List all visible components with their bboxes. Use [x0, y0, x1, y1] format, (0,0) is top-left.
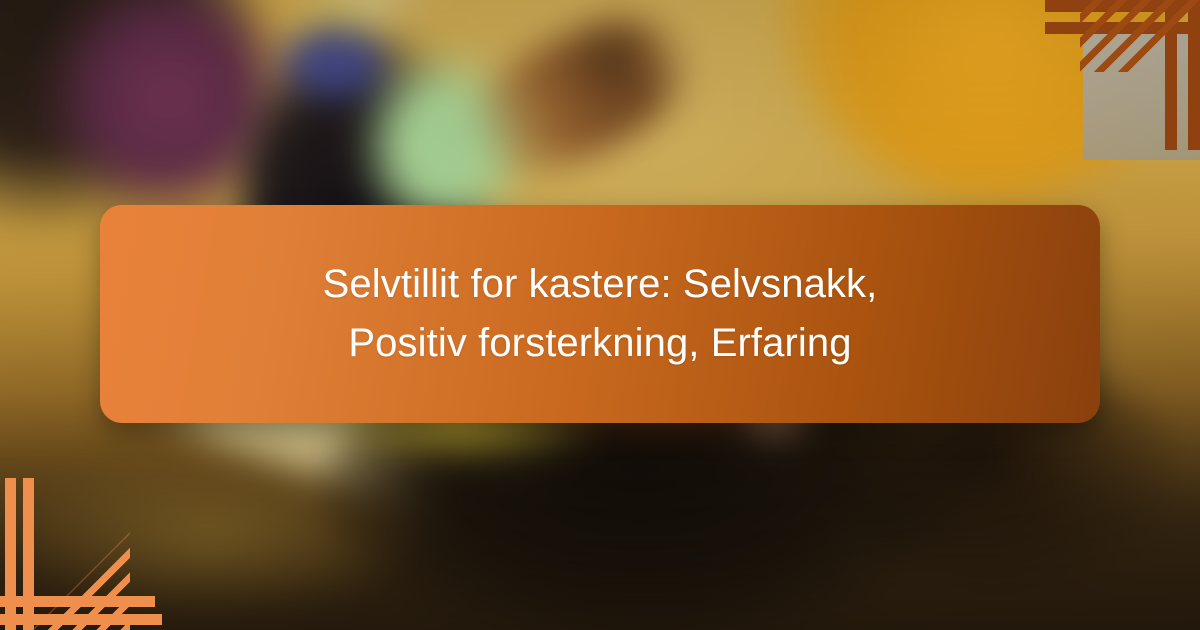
open-graph-card: Selvtillit for kastere: Selvsnakk, Posit… [0, 0, 1200, 630]
title-card: Selvtillit for kastere: Selvsnakk, Posit… [100, 205, 1100, 423]
page-title: Selvtillit for kastere: Selvsnakk, Posit… [260, 255, 940, 373]
